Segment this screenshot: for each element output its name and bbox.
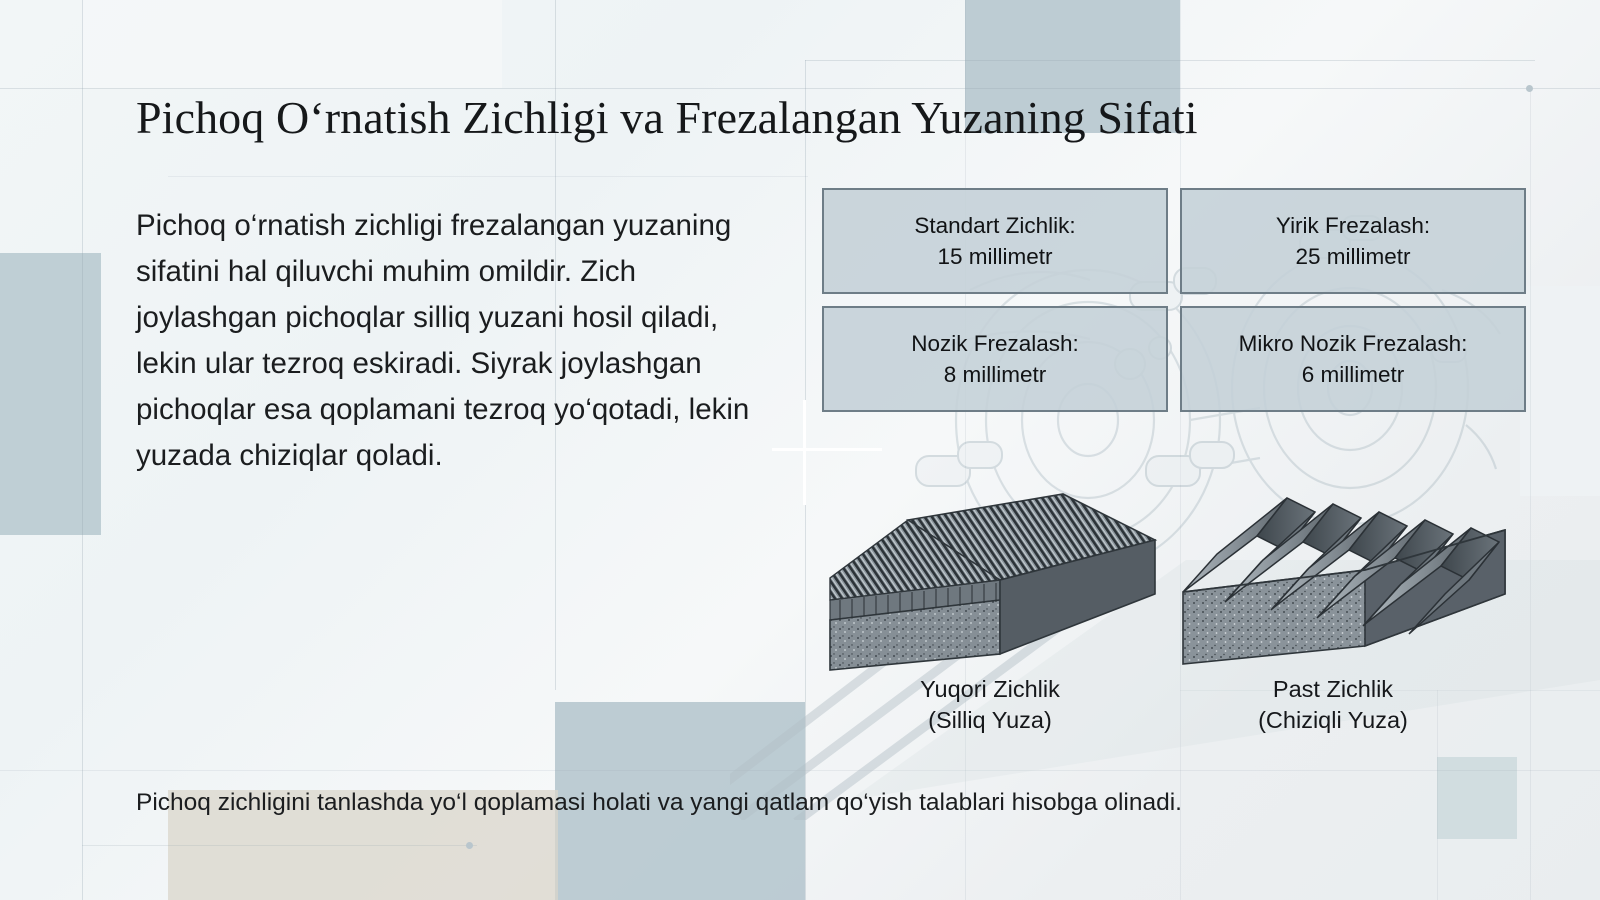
body-paragraph: Pichoq o‘rnatish zichligi frezalangan yu… <box>136 203 756 479</box>
spec-label: Nozik Frezalash: <box>911 328 1079 359</box>
spec-value: 25 millimetr <box>1295 241 1410 272</box>
spec-box-mikro-nozik-frezalash[interactable]: Mikro Nozik Frezalash: 6 millimetr <box>1180 306 1526 412</box>
slab-low-density-caption: Past Zichlik (Chiziqli Yuza) <box>1173 674 1493 736</box>
deco-rect-top-left-pale <box>82 0 502 88</box>
deco-plus-vertical <box>803 400 806 505</box>
deco-dot-top-right <box>1526 85 1533 92</box>
caption-line-1: Past Zichlik <box>1173 674 1493 705</box>
grid-line-horizontal-5 <box>82 845 477 846</box>
spec-value: 8 millimetr <box>944 359 1047 390</box>
spec-box-grid: Standart Zichlik: 15 millimetr Yirik Fre… <box>822 188 1526 412</box>
grid-line-horizontal-1 <box>0 88 1600 89</box>
deco-plus-horizontal <box>772 448 882 451</box>
spec-label: Mikro Nozik Frezalash: <box>1239 328 1468 359</box>
grid-line-horizontal-3 <box>168 176 808 177</box>
spec-value: 6 millimetr <box>1302 359 1405 390</box>
caption-line-2: (Silliq Yuza) <box>830 705 1150 736</box>
slide-canvas: Pichoq O‘rnatish Zichligi va Frezalangan… <box>0 0 1600 900</box>
grid-line-horizontal-4 <box>0 770 1600 771</box>
spec-box-yirik-frezalash[interactable]: Yirik Frezalash: 25 millimetr <box>1180 188 1526 294</box>
slab-low-density-graphic <box>1165 482 1510 672</box>
grid-line-vertical-6 <box>1530 88 1531 900</box>
grid-line-vertical-1 <box>82 0 83 900</box>
slab-low-density: Past Zichlik (Chiziqli Yuza) <box>1165 482 1510 672</box>
slab-high-density-graphic <box>820 482 1160 672</box>
footer-note: Pichoq zichligini tanlashda yo‘l qoplama… <box>136 785 1466 821</box>
caption-line-1: Yuqori Zichlik <box>830 674 1150 705</box>
spec-label: Yirik Frezalash: <box>1276 210 1430 241</box>
spec-box-standart-zichlik[interactable]: Standart Zichlik: 15 millimetr <box>822 188 1168 294</box>
slab-high-density-caption: Yuqori Zichlik (Silliq Yuza) <box>830 674 1150 736</box>
deco-rect-mid-right-pale <box>1520 286 1600 496</box>
caption-line-2: (Chiziqli Yuza) <box>1173 705 1493 736</box>
spec-box-nozik-frezalash[interactable]: Nozik Frezalash: 8 millimetr <box>822 306 1168 412</box>
spec-value: 15 millimetr <box>937 241 1052 272</box>
grid-line-horizontal-2 <box>805 60 1535 61</box>
deco-dot-footer <box>466 842 473 849</box>
grid-line-vertical-3 <box>805 60 806 900</box>
slab-high-density: Yuqori Zichlik (Silliq Yuza) <box>820 482 1160 672</box>
page-title: Pichoq O‘rnatish Zichligi va Frezalangan… <box>136 92 1496 144</box>
spec-label: Standart Zichlik: <box>914 210 1075 241</box>
deco-rect-left <box>0 253 101 535</box>
